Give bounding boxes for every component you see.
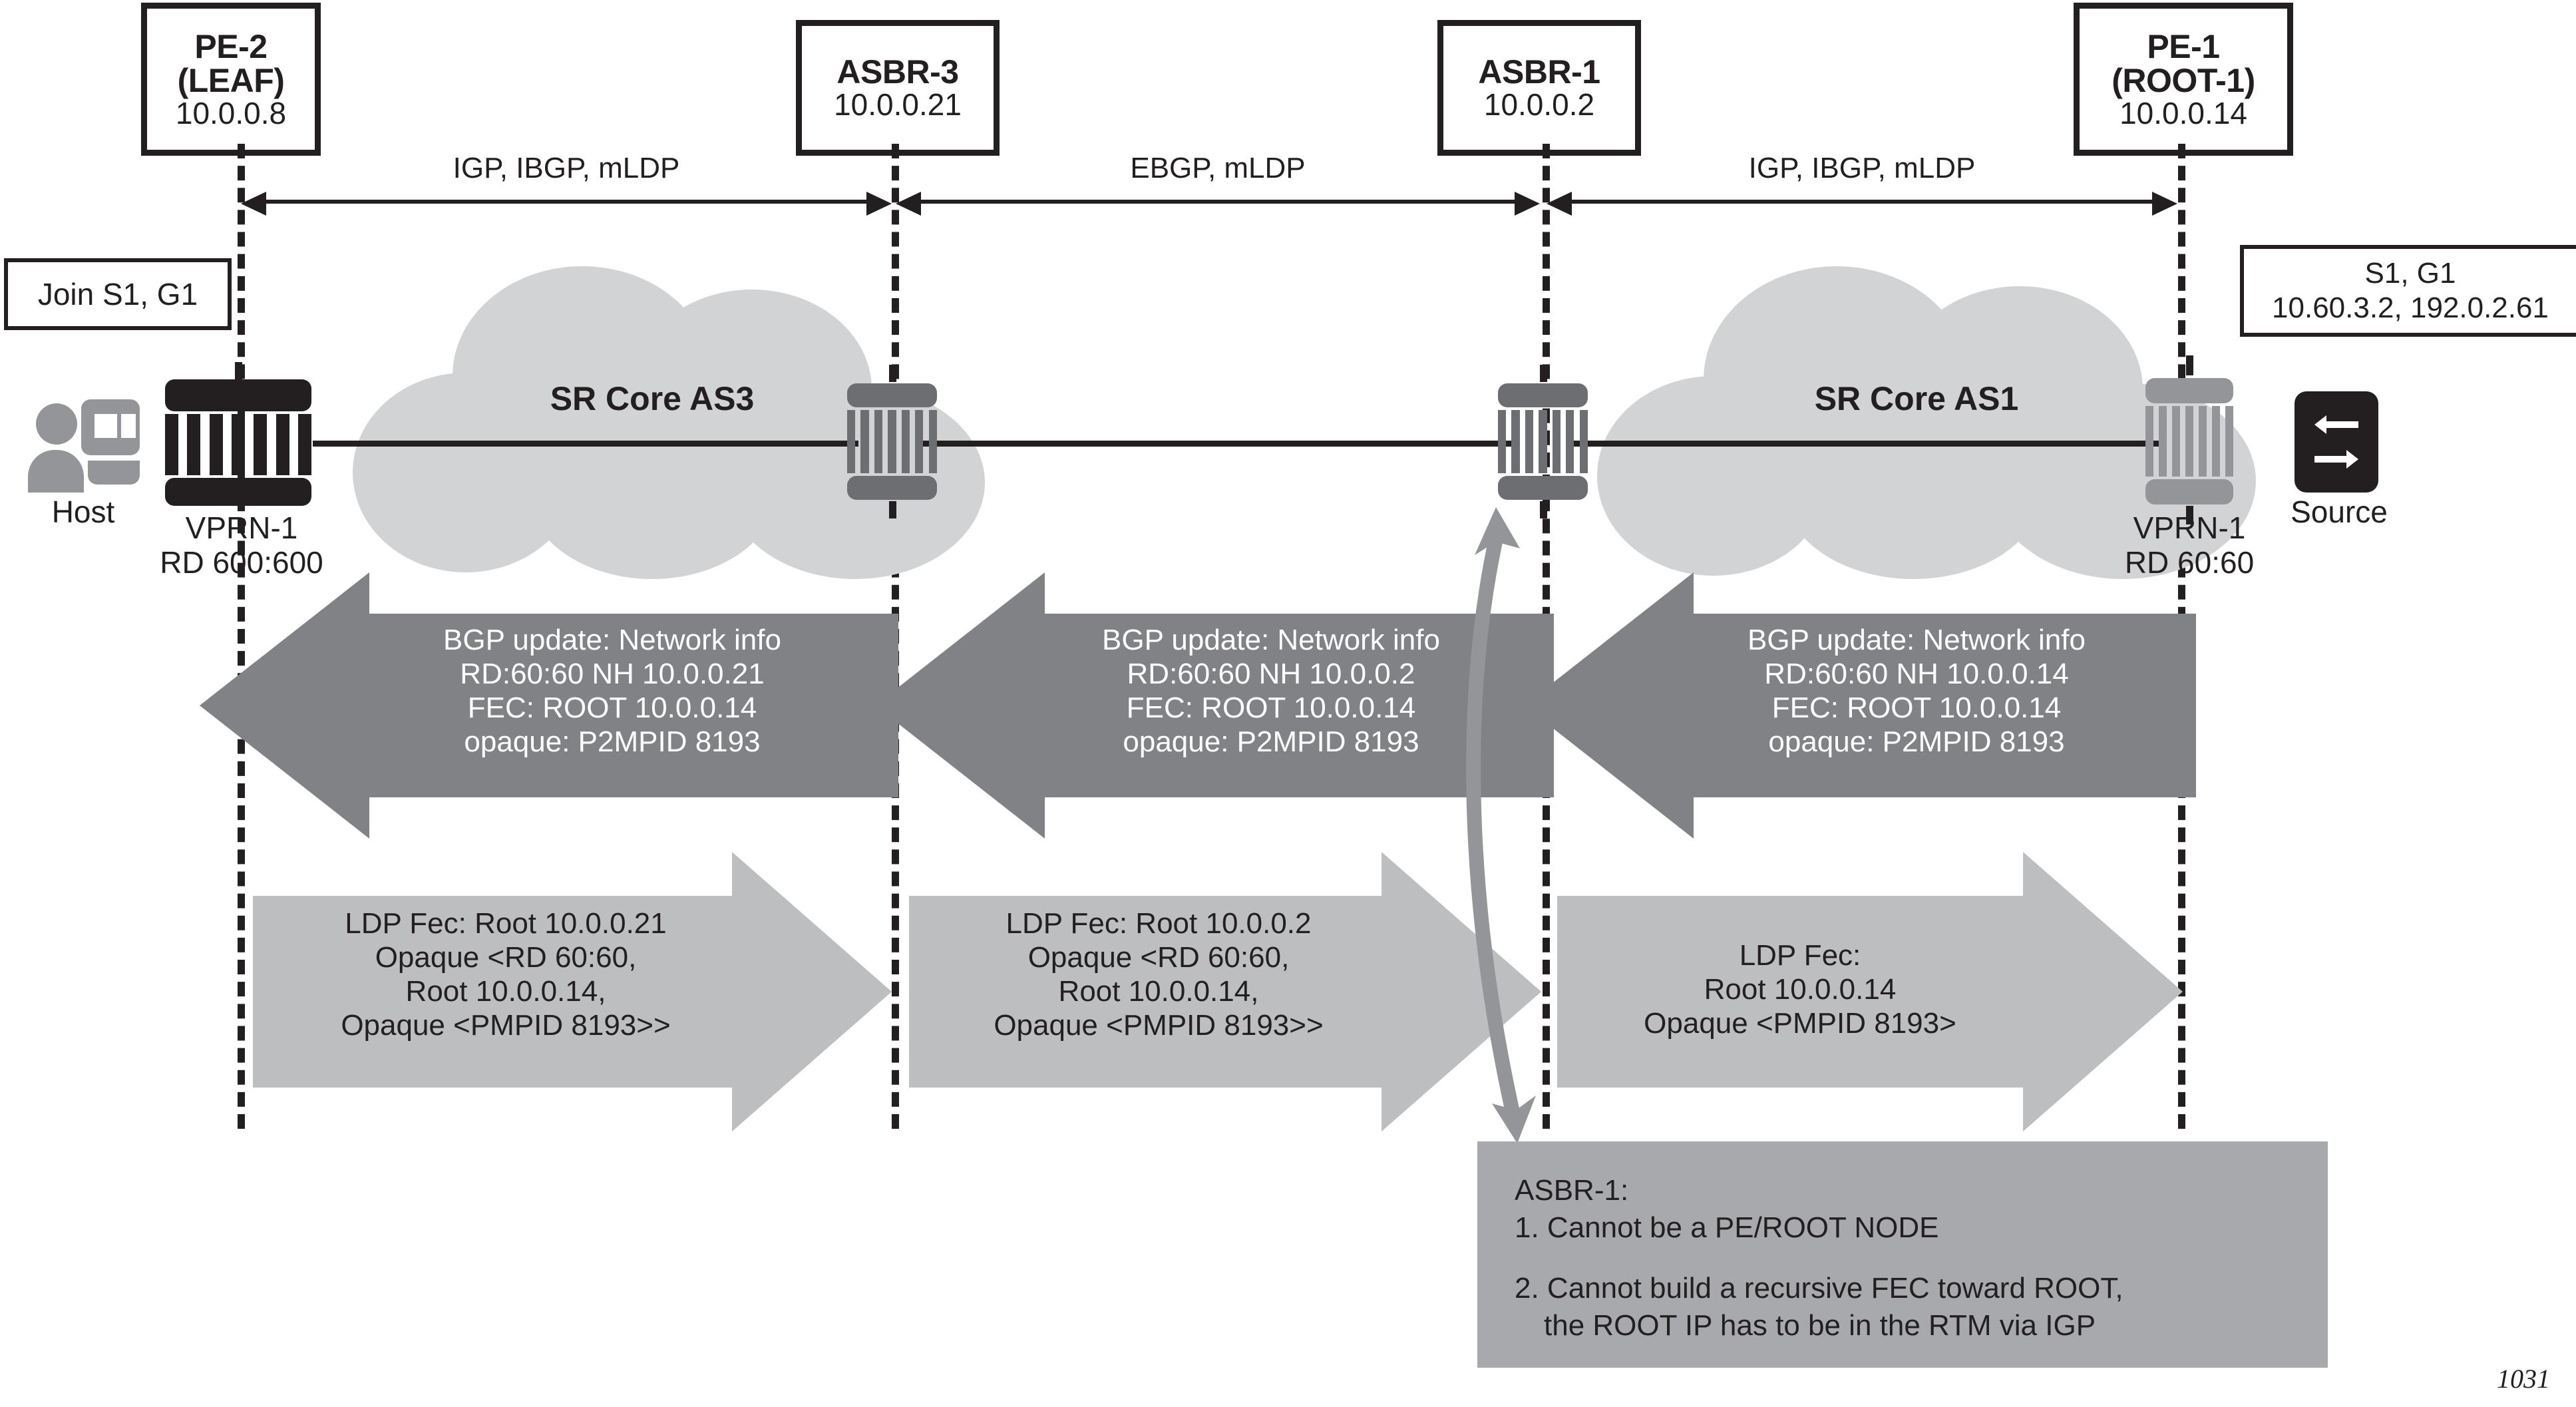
node-ip: 10.0.0.21 (834, 89, 962, 120)
source-sg: S1, G1 (2365, 256, 2456, 291)
join-box: Join S1, G1 (4, 258, 232, 330)
ldp-line: Root 10.0.0.14, (253, 974, 759, 1008)
source-icon (2295, 391, 2378, 493)
link-asbr1-pe1 (1570, 441, 2163, 447)
ldp-line: Opaque <RD 60:60, (253, 940, 759, 974)
note-item-2: 2. Cannot build a recursive FEC toward R… (1515, 1270, 2328, 1307)
bgp-line: BGP update: Network info (326, 623, 898, 657)
router-pe2 (165, 379, 311, 506)
node-name: ASBR-3 (836, 55, 958, 89)
note-item-2-cont: the ROOT IP has to be in the RTM via IGP (1515, 1307, 2328, 1344)
vprn-label-left: VPRN-1 RD 600:600 (132, 511, 351, 580)
bgp-line: RD:60:60 NH 10.0.0.21 (326, 657, 898, 691)
node-box-asbr1: ASBR-1 10.0.0.2 (1437, 20, 1641, 156)
asbr1-note-connector-arrow (1451, 493, 1664, 1158)
figure-number: 1031 (2497, 1363, 2550, 1394)
node-box-pe2: PE-2 (LEAF) 10.0.0.8 (141, 3, 321, 156)
ldp-fec-text-2: LDP Fec: Root 10.0.0.2 Opaque <RD 60:60,… (909, 906, 1541, 1042)
host-icon (27, 399, 140, 493)
ldp-fec-arrow-1: LDP Fec: Root 10.0.0.21 Opaque <RD 60:60… (253, 852, 892, 1131)
ldp-line: Opaque <RD 60:60, (909, 940, 1408, 974)
link-asbr3-asbr1 (918, 441, 1517, 447)
node-name: ASBR-1 (1478, 55, 1600, 89)
node-role: (ROOT-1) (2112, 64, 2255, 98)
host-label: Host (13, 494, 153, 530)
node-role: (LEAF) (178, 64, 285, 98)
bgp-update-arrow-1: BGP update: Network info RD:60:60 NH 10.… (200, 572, 898, 839)
ldp-line: LDP Fec: Root 10.0.0.2 (909, 906, 1408, 940)
ldp-line: Root 10.0.0.14, (909, 974, 1408, 1008)
note-item-1: 1. Cannot be a PE/ROOT NODE (1515, 1209, 2328, 1247)
router-pe1 (2145, 378, 2233, 504)
vprn-name: VPRN-1 (2083, 511, 2296, 546)
ldp-fec-arrow-2: LDP Fec: Root 10.0.0.2 Opaque <RD 60:60,… (909, 852, 1541, 1131)
vprn-name: VPRN-1 (132, 511, 351, 546)
source-label: Source (2269, 494, 2409, 530)
node-name: PE-1 (2147, 30, 2219, 64)
cloud-label-as1: SR Core AS1 (1664, 379, 2169, 418)
node-box-pe1: PE-1 (ROOT-1) 10.0.0.14 (2074, 3, 2293, 156)
node-ip: 10.0.0.8 (176, 98, 286, 129)
span-arrow-left (264, 200, 869, 204)
vprn-label-right: VPRN-1 RD 60:60 (2083, 511, 2296, 580)
span-arrow-right (1569, 200, 2155, 204)
source-info-box: S1, G1 10.60.3.2, 192.0.2.61 (2240, 245, 2576, 337)
bgp-line: FEC: ROOT 10.0.0.14 (326, 691, 898, 725)
bgp-line: opaque: P2MPID 8193 (326, 725, 898, 759)
span-label-middle: EBGP, mLDP (918, 152, 1517, 185)
bgp-line: BGP update: Network info (1637, 623, 2196, 657)
cloud-label-as3: SR Core AS3 (419, 379, 885, 418)
node-ip: 10.0.0.14 (2119, 98, 2247, 129)
asbr1-note-box: ASBR-1: 1. Cannot be a PE/ROOT NODE 2. C… (1477, 1141, 2328, 1368)
router-asbr1 (1498, 383, 1588, 500)
bgp-line: RD:60:60 NH 10.0.0.14 (1637, 657, 2196, 691)
node-ip: 10.0.0.2 (1484, 89, 1594, 120)
ldp-line: Opaque <PMPID 8193>> (909, 1008, 1408, 1042)
span-label-left: IGP, IBGP, mLDP (264, 152, 869, 185)
node-name: PE-2 (194, 30, 267, 64)
bidirectional-arrows-icon (2295, 391, 2378, 493)
bgp-line: opaque: P2MPID 8193 (1637, 725, 2196, 759)
source-addresses: 10.60.3.2, 192.0.2.61 (2272, 291, 2549, 325)
note-title: ASBR-1: (1515, 1172, 2328, 1209)
node-box-asbr3: ASBR-3 10.0.0.21 (796, 20, 1000, 156)
router-asbr3 (847, 383, 937, 500)
join-text: Join S1, G1 (38, 276, 198, 312)
bgp-line: FEC: ROOT 10.0.0.14 (1637, 691, 2196, 725)
link-pe2-asbr3 (313, 441, 858, 447)
bgp-update-text-1: BGP update: Network info RD:60:60 NH 10.… (200, 623, 898, 759)
ldp-fec-text-1: LDP Fec: Root 10.0.0.21 Opaque <RD 60:60… (253, 906, 892, 1042)
span-arrow-middle (918, 200, 1517, 204)
network-diagram: PE-2 (LEAF) 10.0.0.8 ASBR-3 10.0.0.21 AS… (0, 0, 2576, 1407)
ldp-line: LDP Fec: Root 10.0.0.21 (253, 906, 759, 940)
span-label-right: IGP, IBGP, mLDP (1569, 152, 2155, 185)
ldp-line: Opaque <PMPID 8193>> (253, 1008, 759, 1042)
